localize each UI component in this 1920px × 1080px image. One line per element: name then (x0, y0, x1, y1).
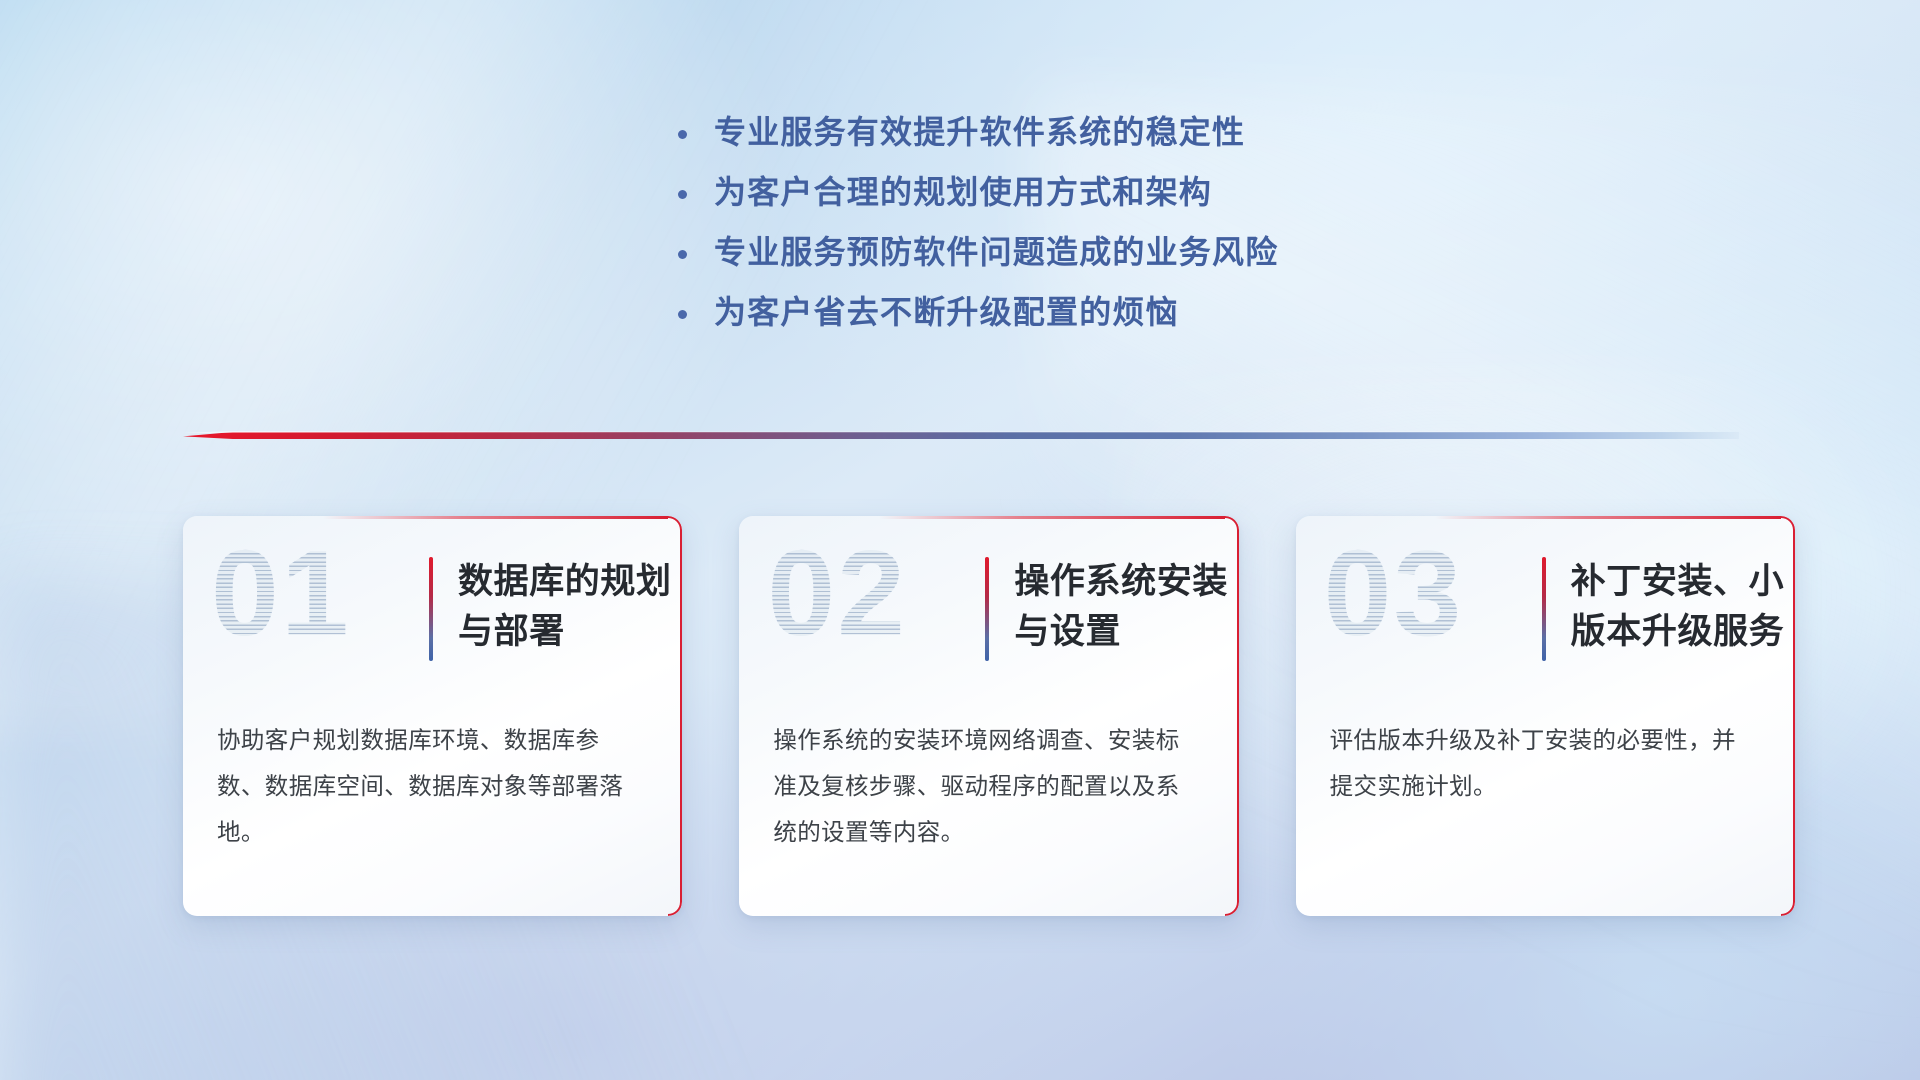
card-title: 补丁安装、小版本升级服务 (1571, 557, 1795, 661)
service-card[interactable]: 02 02 操作系统安装与设置 操作系统的安装环境网络调查、安装标准及复核步骤、… (739, 516, 1238, 916)
bullet-dot-icon (672, 130, 714, 139)
card-title-accent-bar (429, 557, 433, 661)
card-number-watermark: 01 (211, 532, 351, 654)
bullet-dot-icon (672, 190, 714, 199)
bullet-text: 为客户合理的规划使用方式和架构 (714, 172, 1212, 212)
bullet-text: 为客户省去不断升级配置的烦恼 (714, 292, 1179, 332)
bullet-text: 专业服务有效提升软件系统的稳定性 (714, 112, 1245, 152)
card-body-text: 协助客户规划数据库环境、数据库参数、数据库空间、数据库对象等部署落地。 (183, 702, 682, 855)
card-title-block: 数据库的规划与部署 (429, 557, 682, 661)
card-body-text: 评估版本升级及补丁安装的必要性，并提交实施计划。 (1296, 702, 1795, 810)
bullet-dot-icon (672, 310, 714, 319)
bullet-text: 专业服务预防软件问题造成的业务风险 (714, 232, 1278, 272)
card-title-accent-bar (985, 557, 989, 661)
card-number-watermark: 03 (1324, 532, 1464, 654)
bullet-dot-icon (672, 250, 714, 259)
card-title-block: 补丁安装、小版本升级服务 (1542, 557, 1795, 661)
service-card[interactable]: 03 03 补丁安装、小版本升级服务 评估版本升级及补丁安装的必要性，并提交实施… (1296, 516, 1795, 916)
bullet-item: 专业服务预防软件问题造成的业务风险 (672, 232, 1432, 272)
service-card-list: 01 01 数据库的规划与部署 协助客户规划数据库环境、数据库参数、数据库空间、… (183, 516, 1795, 916)
card-header: 03 03 补丁安装、小版本升级服务 (1296, 516, 1795, 702)
bullet-item: 为客户省去不断升级配置的烦恼 (672, 292, 1432, 332)
bullet-item: 专业服务有效提升软件系统的稳定性 (672, 112, 1432, 152)
card-title: 操作系统安装与设置 (1014, 557, 1238, 661)
card-title-accent-bar (1542, 557, 1546, 661)
benefits-bullet-list: 专业服务有效提升软件系统的稳定性 为客户合理的规划使用方式和架构 专业服务预防软… (672, 112, 1432, 352)
card-title-block: 操作系统安装与设置 (985, 557, 1238, 661)
card-number-watermark: 02 (767, 532, 907, 654)
card-body-text: 操作系统的安装环境网络调查、安装标准及复核步骤、驱动程序的配置以及系统的设置等内… (739, 702, 1238, 855)
card-header: 02 02 操作系统安装与设置 (739, 516, 1238, 702)
card-header: 01 01 数据库的规划与部署 (183, 516, 682, 702)
card-title: 数据库的规划与部署 (458, 557, 682, 661)
service-card[interactable]: 01 01 数据库的规划与部署 协助客户规划数据库环境、数据库参数、数据库空间、… (183, 516, 682, 916)
bullet-item: 为客户合理的规划使用方式和架构 (672, 172, 1432, 212)
